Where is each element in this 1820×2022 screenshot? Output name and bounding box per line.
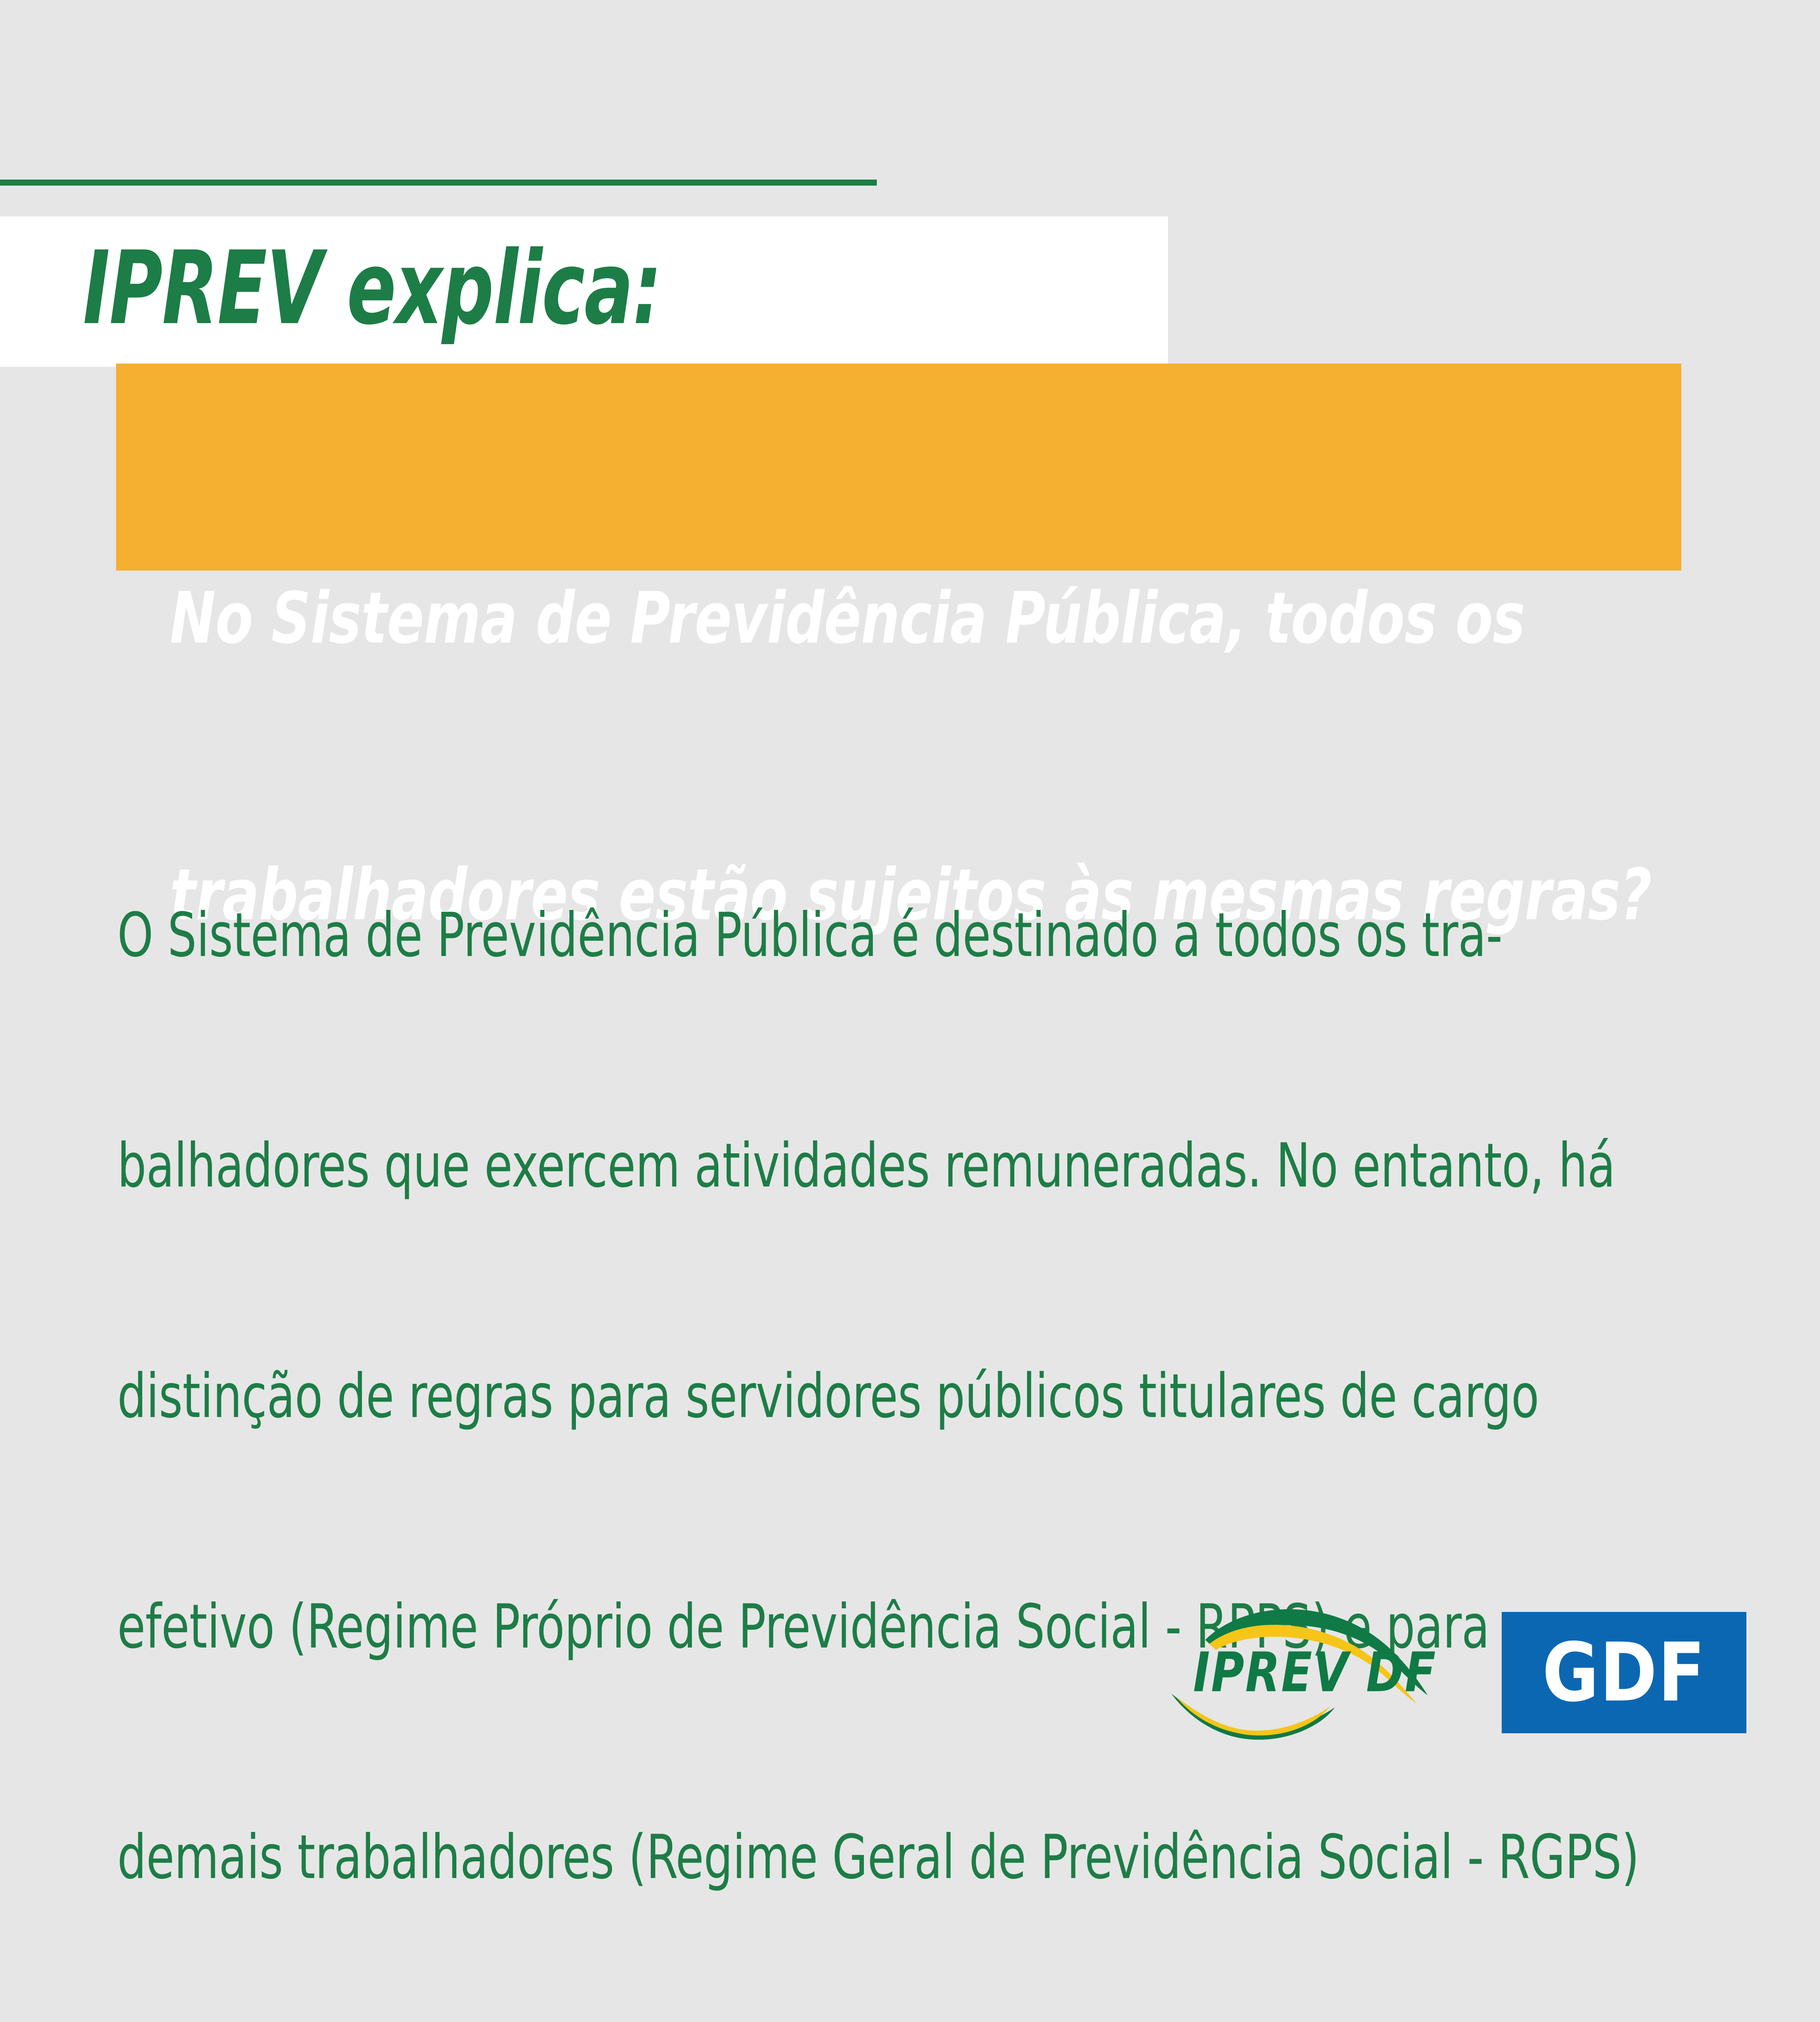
poster-canvas: IPREV explica: No Sistema de Previdência… bbox=[0, 0, 1820, 1820]
body-line-5: demais trabalhadores (Regime Geral de Pr… bbox=[117, 1819, 1476, 1896]
body-line-2: balhadores que exercem atividades remune… bbox=[117, 1127, 1476, 1204]
question-line-1: No Sistema de Previdência Pública, todos… bbox=[170, 573, 1526, 665]
gdf-logo: GDF bbox=[1502, 1612, 1746, 1733]
body-line-3: distinção de regras para servidores públ… bbox=[117, 1358, 1476, 1435]
kicker-title: IPREV explica: bbox=[83, 238, 661, 339]
iprev-df-wordmark: IPREV DF bbox=[1193, 1645, 1437, 1700]
header-green-rule bbox=[0, 180, 877, 186]
footer-logo-lockup: IPREV DF GDF bbox=[1165, 1601, 1763, 1771]
iprev-df-logo: IPREV DF bbox=[1165, 1601, 1496, 1747]
body-line-1: O Sistema de Previdência Pública é desti… bbox=[117, 897, 1476, 974]
body-paragraph: O Sistema de Previdência Pública é desti… bbox=[117, 743, 1476, 2022]
gdf-wordmark: GDF bbox=[1508, 1612, 1740, 1733]
